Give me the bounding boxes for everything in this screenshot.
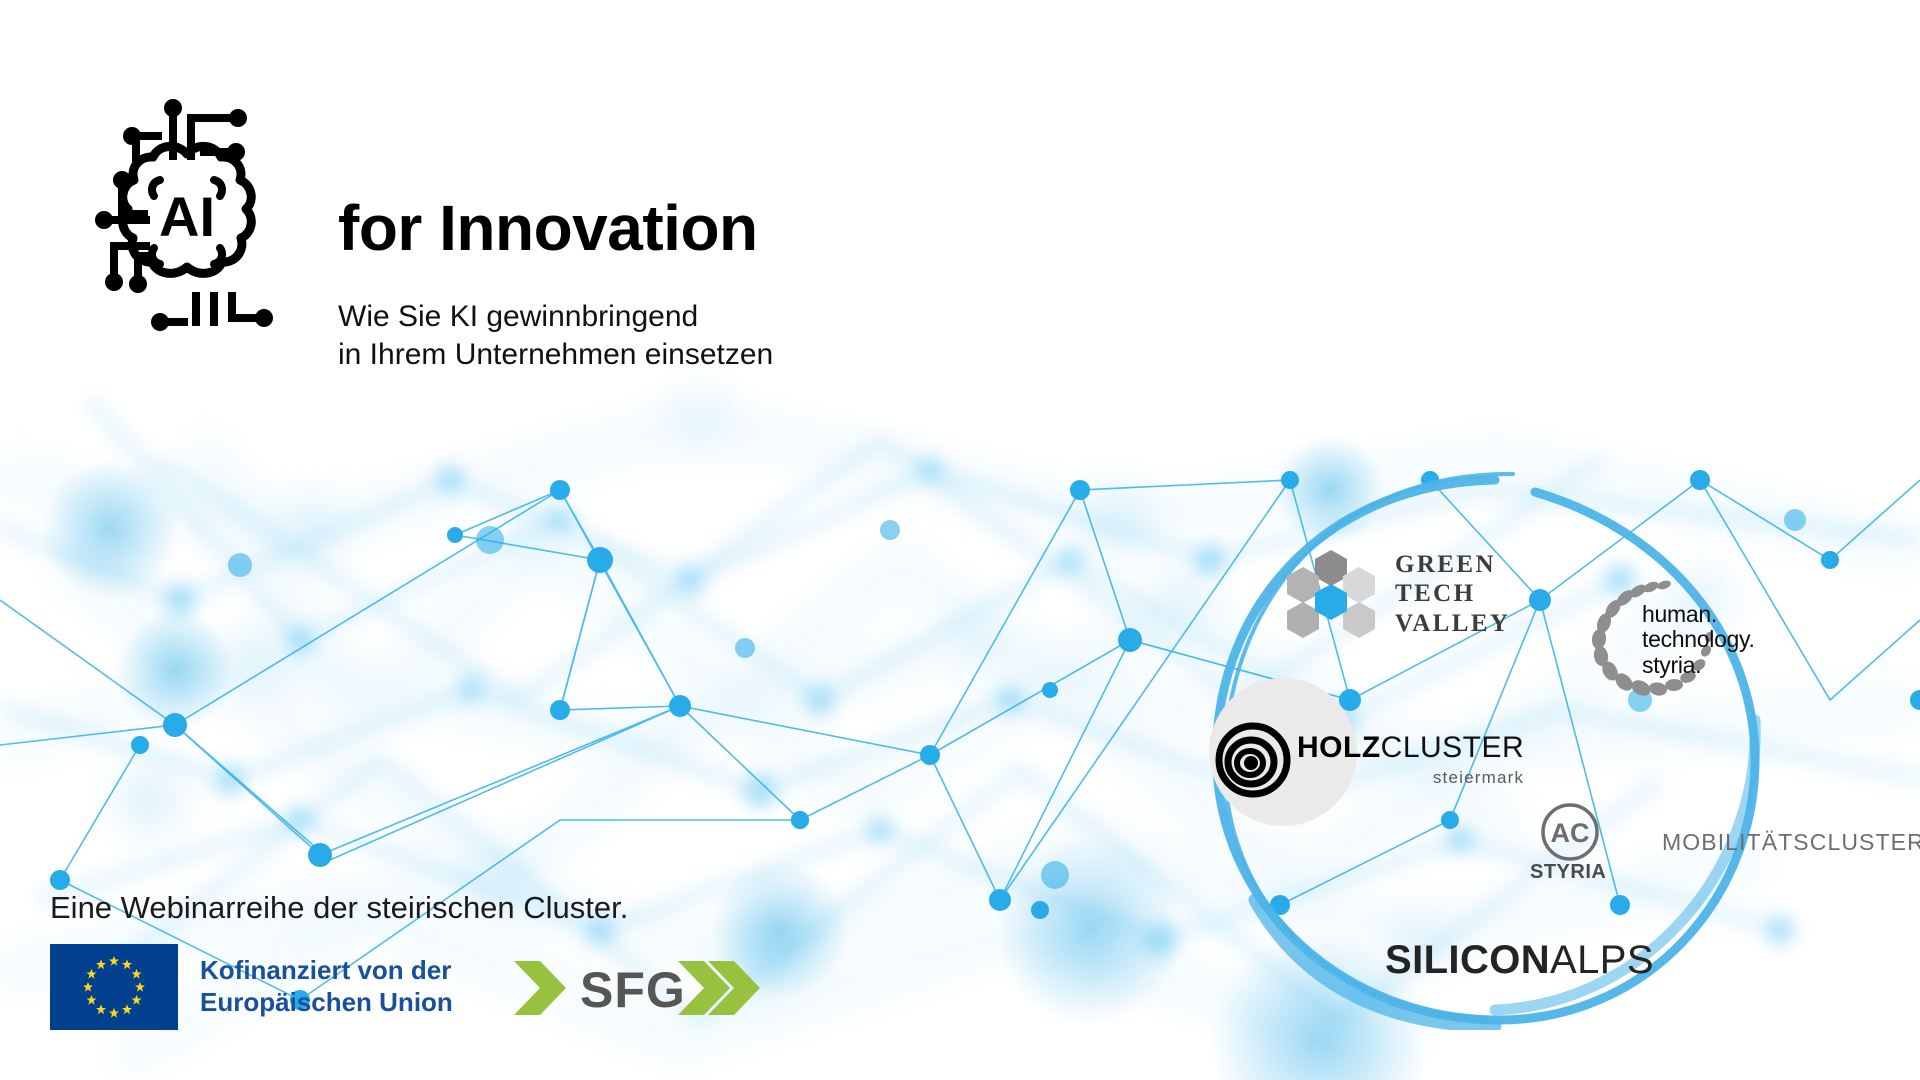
siliconalps-word-light: ALPS — [1550, 938, 1654, 982]
holzcluster-word-bold: HOLZ — [1297, 731, 1381, 764]
ac-circle-icon: AC STYRIA — [1528, 802, 1612, 882]
logo-holzcluster-steiermark: HOLZCLUSTER steiermark — [1215, 722, 1524, 798]
human-technology-styria-label: human. technology. styria. — [1642, 602, 1755, 678]
poster-canvas: AI for Innovation Wie Sie KI gewinnbring… — [0, 0, 1920, 1080]
sfg-label: SFG — [580, 962, 686, 1018]
ac-mark-text: AC — [1551, 818, 1590, 848]
holzcluster-wordmark: HOLZCLUSTER steiermark — [1297, 733, 1524, 788]
ac-styria-sub: STYRIA — [1530, 861, 1606, 884]
mobilitaetscluster-label: MOBILITÄTSCLUSTER — [1662, 829, 1920, 856]
holzcluster-subtitle: steiermark — [1297, 768, 1524, 788]
siliconalps-word-bold: SILICON — [1385, 938, 1550, 982]
logo-silicon-alps: SILICONALPS — [1385, 938, 1654, 983]
eu-funding-label: Kofinanziert von der Europäischen Union — [200, 955, 453, 1018]
page-title: for Innovation — [338, 196, 758, 260]
logo-sfg: SFG — [512, 955, 760, 1021]
ai-brain-circuit-icon: AI — [92, 96, 282, 336]
brain-ai-label: AI — [159, 185, 215, 248]
eu-funding-block: Kofinanziert von der Europäischen Union — [50, 944, 453, 1030]
webinar-series-line: Eine Webinarreihe der steirischen Cluste… — [50, 890, 628, 926]
logo-green-tech-valley: GREEN TECH VALLEY — [1285, 548, 1510, 640]
holzcluster-word-light: CLUSTER — [1381, 731, 1525, 764]
page-subtitle: Wie Sie KI gewinnbringend in Ihrem Unter… — [338, 298, 773, 375]
tree-rings-icon — [1215, 722, 1291, 798]
logo-human-technology-styria: human. technology. styria. — [1580, 578, 1800, 708]
green-tech-valley-label: GREEN TECH VALLEY — [1395, 550, 1510, 639]
hexagon-cluster-icon — [1285, 548, 1377, 640]
eu-flag-icon — [50, 944, 178, 1030]
logo-ac-styria-mobilitaetscluster: AC STYRIA MOBILITÄTSCLUSTER — [1528, 802, 1920, 882]
